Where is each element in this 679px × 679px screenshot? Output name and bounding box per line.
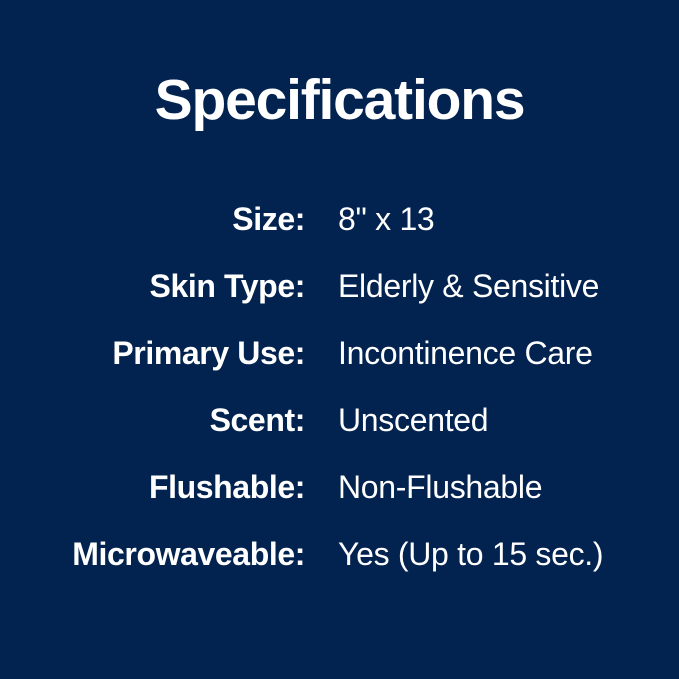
table-row: Flushable: Non-Flushable [0, 454, 679, 521]
spec-value-skin-type: Elderly & Sensitive [305, 253, 679, 320]
table-row: Size: 8" x 13 [0, 186, 679, 253]
table-row: Scent: Unscented [0, 387, 679, 454]
spec-value-primary-use: Incontinence Care [305, 320, 679, 387]
spec-label-flushable: Flushable: [0, 454, 305, 521]
spec-label-skin-type: Skin Type: [0, 253, 305, 320]
table-row: Skin Type: Elderly & Sensitive [0, 253, 679, 320]
spec-value-size: 8" x 13 [305, 186, 679, 253]
spec-label-primary-use: Primary Use: [0, 320, 305, 387]
spec-value-microwaveable: Yes (Up to 15 sec.) [305, 521, 679, 588]
table-row: Microwaveable: Yes (Up to 15 sec.) [0, 521, 679, 588]
spec-label-size: Size: [0, 186, 305, 253]
table-row: Primary Use: Incontinence Care [0, 320, 679, 387]
specifications-table-body: Size: 8" x 13 Skin Type: Elderly & Sensi… [0, 186, 679, 588]
specifications-table: Size: 8" x 13 Skin Type: Elderly & Sensi… [0, 186, 679, 588]
spec-label-microwaveable: Microwaveable: [0, 521, 305, 588]
specifications-panel: Specifications Size: 8" x 13 Skin Type: … [0, 0, 679, 679]
spec-value-scent: Unscented [305, 387, 679, 454]
page-title: Specifications [0, 72, 679, 129]
spec-value-flushable: Non-Flushable [305, 454, 679, 521]
spec-label-scent: Scent: [0, 387, 305, 454]
